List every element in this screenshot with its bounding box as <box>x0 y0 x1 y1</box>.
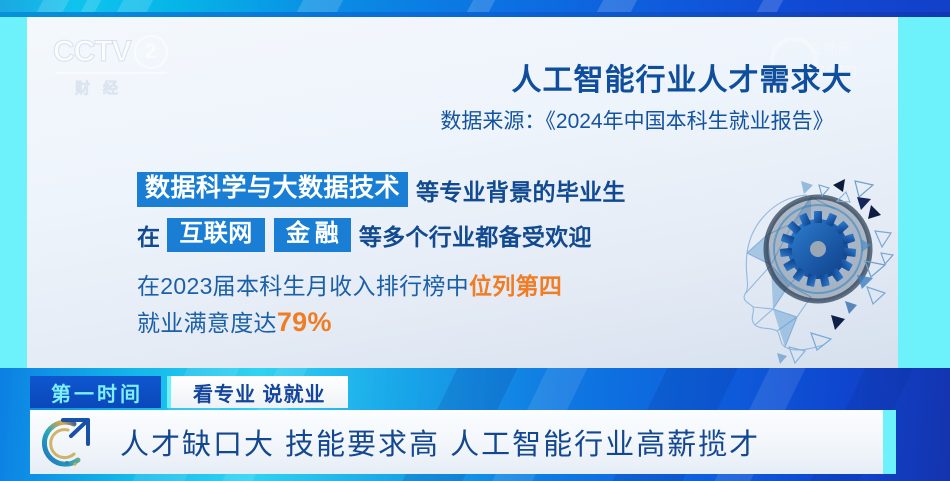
stat-satisfaction-prefix: 就业满意度达 <box>137 310 277 336</box>
broadcast-screen: CCTV 2 财经 央视网 .com 人工智能行业人才需求大 数据来源：《202… <box>0 0 950 481</box>
channel-number: 2 <box>134 35 168 69</box>
cctv2-finance-logo: CCTV 2 财经 <box>53 35 185 101</box>
logo-underline <box>55 72 167 74</box>
ticker-bar: 人才缺口大 技能要求高 人工智能行业高薪揽才 <box>30 410 896 474</box>
stat-ranking-prefix: 在2023届本科生月收入排行榜中 <box>137 273 469 299</box>
content-panel: CCTV 2 财经 央视网 .com 人工智能行业人才需求大 数据来源：《202… <box>27 17 898 368</box>
banner-tab-row: 第一时间 看专业 说就业 <box>30 376 348 408</box>
cctv-wordmark: CCTV <box>53 37 131 67</box>
ai-wireframe-head-graphic <box>715 157 925 372</box>
page-title: 人工智能行业人才需求大 <box>457 55 907 99</box>
stat-line-ranking: 在2023届本科生月收入排行榜中位列第四 <box>137 270 737 303</box>
channel-subtitle: 财经 <box>53 77 185 98</box>
stat-satisfaction-value: 79% <box>277 307 332 337</box>
copy-line-1-tail: 等专业背景的毕业生 <box>416 173 626 207</box>
data-source-line: 数据来源：《2024年中国本科生就业报告》 <box>367 105 907 135</box>
ticker-headline: 人才缺口大 技能要求高 人工智能行业高薪揽才 <box>120 421 760 463</box>
highlight-industry-internet: 互联网 <box>167 218 265 252</box>
lower-third-banner: 第一时间 看专业 说就业 <box>0 368 950 481</box>
copy-line-2: 在 互联网 金融 等多个行业都备受欢迎 <box>137 218 737 252</box>
copy-line-2-tail: 等多个行业都备受欢迎 <box>359 218 592 252</box>
left-cyan-rail <box>0 17 27 368</box>
copy-line-1: 数据科学与大数据技术 等专业背景的毕业生 <box>137 172 737 207</box>
tab-segment-name[interactable]: 看专业 说就业 <box>167 376 348 408</box>
copy-line-2-lead: 在 <box>137 218 160 252</box>
program-swoosh-logo-icon <box>38 414 104 470</box>
stat-line-satisfaction: 就业满意度达79% <box>137 303 737 342</box>
stat-ranking-accent: 位列第四 <box>469 273 562 299</box>
ticker-cyan-accent <box>883 410 896 474</box>
top-gradient-strip <box>0 0 950 12</box>
highlight-industry-finance: 金融 <box>274 218 351 252</box>
tab-program-name[interactable]: 第一时间 <box>30 376 161 408</box>
highlight-major-data-science: 数据科学与大数据技术 <box>137 172 408 207</box>
body-copy-block: 数据科学与大数据技术 等专业背景的毕业生 在 互联网 金融 等多个行业都备受欢迎… <box>137 172 737 342</box>
